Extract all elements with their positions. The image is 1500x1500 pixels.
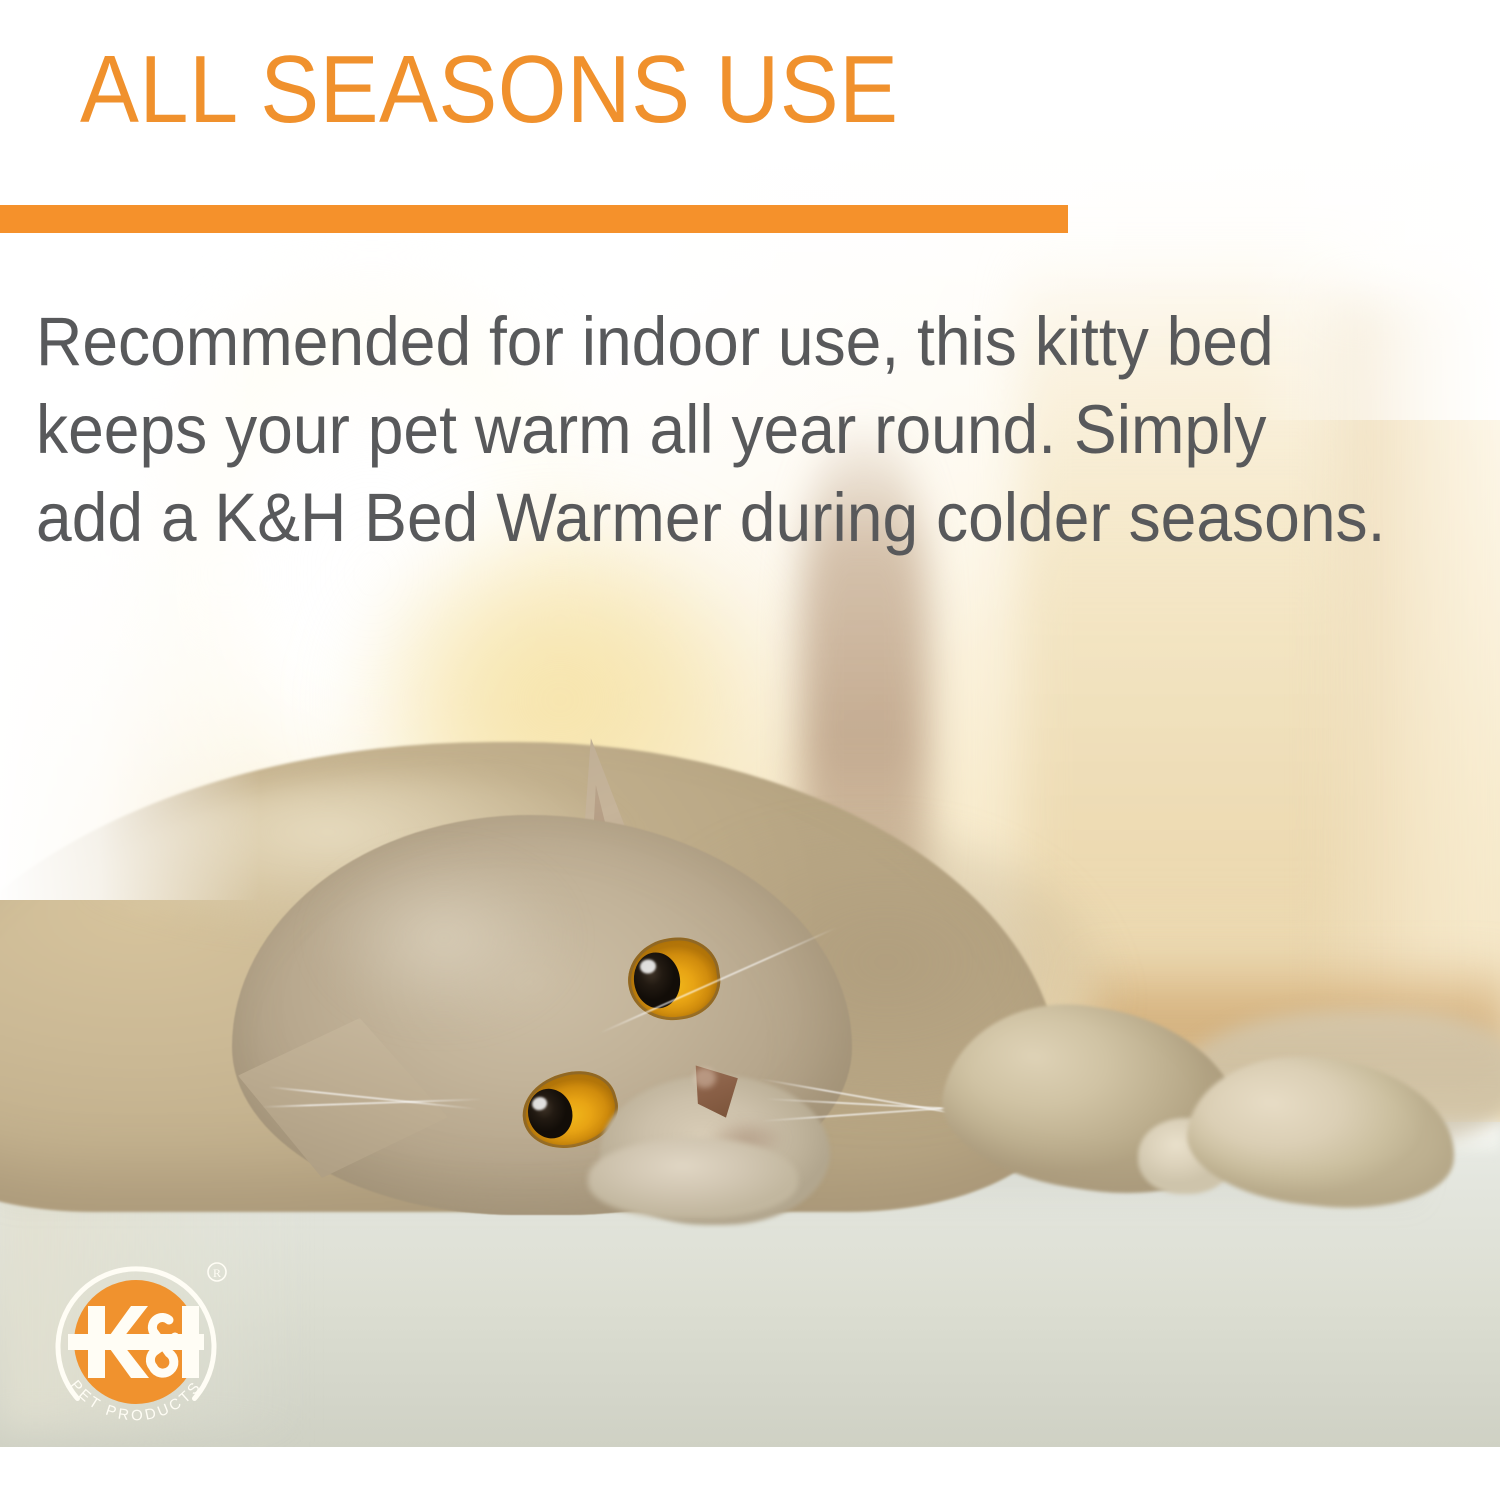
description-line-2: keeps your pet warm all year round. Simp…: [36, 386, 1385, 474]
page-title: ALL SEASONS USE: [80, 42, 898, 138]
kh-pet-products-logo: PET PRODUCTS R: [36, 1246, 236, 1446]
description-line-1: Recommended for indoor use, this kitty b…: [36, 298, 1385, 386]
promo-graphic: ALL SEASONS USE Recommended for indoor u…: [0, 0, 1500, 1500]
cat-chin: [588, 1138, 798, 1218]
registered-trademark-icon: R: [208, 1263, 226, 1281]
description-text: Recommended for indoor use, this kitty b…: [36, 298, 1385, 562]
svg-text:R: R: [213, 1266, 221, 1280]
title-divider-bar: [0, 205, 1068, 233]
description-line-3: add a K&H Bed Warmer during colder seaso…: [36, 474, 1385, 562]
bottom-white-strip: [0, 1447, 1500, 1500]
cat-nose-highlight: [694, 1068, 716, 1088]
